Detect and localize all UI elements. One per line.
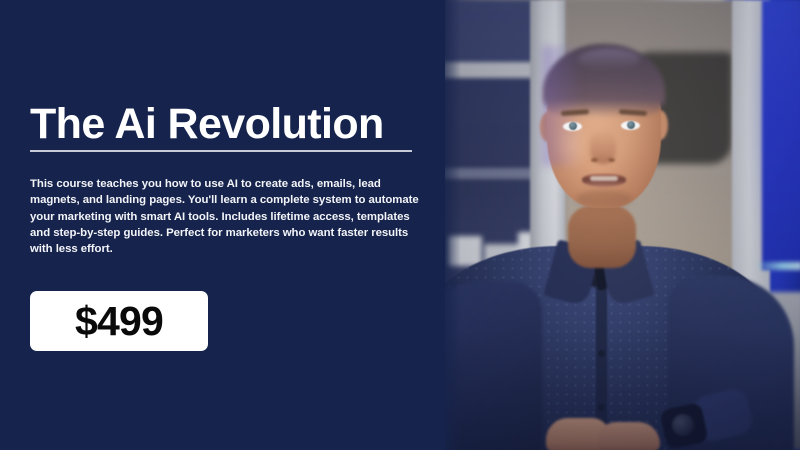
title-underline (30, 150, 412, 152)
rim-light (542, 46, 582, 166)
chin-shadow (576, 190, 632, 208)
price-badge[interactable]: $499 (30, 291, 208, 351)
video-floor-shadow (400, 330, 800, 450)
hair-highlight (578, 48, 640, 70)
nostril-right (608, 158, 615, 162)
promo-slide: The Ai Revolution This course teaches yo… (0, 0, 800, 450)
presenter-video[interactable] (400, 0, 800, 450)
teeth (590, 176, 618, 181)
iris-left (569, 122, 577, 130)
page-title: The Ai Revolution (30, 101, 420, 148)
price-label: $499 (75, 301, 163, 342)
nostril-left (591, 158, 598, 162)
presenter-neck (568, 206, 636, 268)
course-description: This course teaches you how to use AI to… (30, 176, 422, 257)
iris-right (627, 121, 635, 129)
